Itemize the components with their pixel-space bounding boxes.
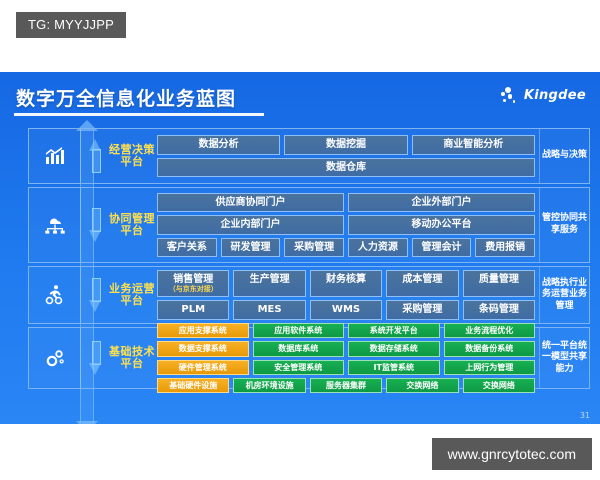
chip-data-storage-system[interactable]: 数据存储系统 [348, 341, 440, 356]
chip-internal-portal[interactable]: 企业内部门户 [157, 215, 344, 235]
chip-sales-mgmt[interactable]: 销售管理 （与京东对接） [157, 270, 229, 297]
architecture-layers: 经营决策平台 数据分析 数据挖掘 商业智能分析 数据仓库 战略与决策 [28, 128, 590, 392]
chip-row: 硬件管理系统 安全管理系统 IT监管系统 上网行为管理 [157, 360, 535, 375]
chip-mgmt-accounting[interactable]: 管理会计 [412, 238, 472, 258]
chip-database-system[interactable]: 数据库系统 [253, 341, 345, 356]
chip-data-backup-system[interactable]: 数据备份系统 [444, 341, 536, 356]
chip-internet-behavior-mgmt[interactable]: 上网行为管理 [444, 360, 536, 375]
page-title: 数字万全信息化业务蓝图 [16, 84, 236, 111]
layer-icon-cell [29, 328, 81, 388]
chip-security-mgmt-system[interactable]: 安全管理系统 [253, 360, 345, 375]
chip-row: 客户关系 研发管理 采购管理 人力资源 管理会计 费用报销 [157, 238, 535, 258]
chip-data-warehouse[interactable]: 数据仓库 [157, 158, 535, 178]
chip-data-analysis[interactable]: 数据分析 [157, 135, 280, 155]
layer-arrow-cell [81, 188, 109, 262]
chip-row: 数据支撑系统 数据库系统 数据存储系统 数据备份系统 [157, 341, 535, 356]
chip-hardware-mgmt-system[interactable]: 硬件管理系统 [157, 360, 249, 375]
layer-operations: 业务运营平台 销售管理 （与京东对接） 生产管理 财务核算 成本管理 质量管理 … [28, 266, 590, 324]
layer-body-collaboration: 供应商协同门户 企业外部门户 企业内部门户 移动办公平台 客户关系 研发管理 采… [155, 188, 539, 262]
kingdee-dots-icon [501, 86, 519, 104]
chip-row: 数据仓库 [157, 158, 535, 178]
layer-icon-cell [29, 267, 81, 323]
chip-mes[interactable]: MES [233, 300, 305, 320]
url-watermark-badge: www.gnrcytotec.com [432, 438, 592, 470]
gears-icon [43, 346, 67, 370]
arrow-down-icon [89, 208, 102, 242]
chip-wms[interactable]: WMS [310, 300, 382, 320]
chip-barcode-mgmt[interactable]: 条码管理 [463, 300, 535, 320]
chip-bi-analysis[interactable]: 商业智能分析 [412, 135, 535, 155]
side-label-execution: 战略执行业务运营业务管理 [539, 267, 589, 323]
arrow-down-icon [89, 278, 102, 312]
chip-production-mgmt[interactable]: 生产管理 [233, 270, 305, 297]
chip-quality-mgmt[interactable]: 质量管理 [463, 270, 535, 297]
chip-hr[interactable]: 人力资源 [348, 238, 408, 258]
bar-chart-icon [43, 144, 67, 168]
layer-name-decision: 经营决策平台 [109, 129, 155, 183]
chip-row: 企业内部门户 移动办公平台 [157, 215, 535, 235]
cloud-network-icon [43, 213, 67, 237]
chip-row: 销售管理 （与京东对接） 生产管理 财务核算 成本管理 质量管理 [157, 270, 535, 297]
chip-procurement-mgmt[interactable]: 采购管理 [284, 238, 344, 258]
chip-row: 供应商协同门户 企业外部门户 [157, 193, 535, 213]
layer-decision: 经营决策平台 数据分析 数据挖掘 商业智能分析 数据仓库 战略与决策 [28, 128, 590, 184]
chip-basic-hardware-facility[interactable]: 基础硬件设施 [157, 378, 229, 393]
arrow-down-icon [89, 341, 102, 375]
chip-data-mining[interactable]: 数据挖掘 [284, 135, 407, 155]
kingdee-logo: Kingdee [501, 86, 586, 104]
chip-purchase-mgmt[interactable]: 采购管理 [386, 300, 458, 320]
side-label-unified: 统一平台统一模型共享能力 [539, 328, 589, 388]
chip-rnd-mgmt[interactable]: 研发管理 [221, 238, 281, 258]
chip-crm[interactable]: 客户关系 [157, 238, 217, 258]
title-underline [14, 113, 264, 116]
chip-external-portal[interactable]: 企业外部门户 [348, 193, 535, 213]
screenshot-root: TG: MYYJJPP 数字万全信息化业务蓝图 Kingdee [0, 0, 600, 480]
layer-icon-cell [29, 188, 81, 262]
chip-sales-mgmt-sublabel: （与京东对接） [160, 286, 226, 294]
layer-body-decision: 数据分析 数据挖掘 商业智能分析 数据仓库 [155, 129, 539, 183]
layer-body-operations: 销售管理 （与京东对接） 生产管理 财务核算 成本管理 质量管理 PLM MES… [155, 267, 539, 323]
layer-icon-cell [29, 129, 81, 183]
chip-sales-mgmt-label: 销售管理 [173, 274, 213, 285]
layer-arrow-cell [81, 129, 109, 183]
side-label-governance: 管控协同共享服务 [539, 188, 589, 262]
chip-financial-accounting[interactable]: 财务核算 [310, 270, 382, 297]
chip-row: 应用支撑系统 应用软件系统 系统开发平台 业务流程优化 [157, 323, 535, 338]
layer-arrow-cell [81, 328, 109, 388]
chip-datacenter-facility[interactable]: 机房环境设施 [233, 378, 305, 393]
layer-collaboration: 协同管理平台 供应商协同门户 企业外部门户 企业内部门户 移动办公平台 客户关系… [28, 187, 590, 263]
layer-arrow-cell [81, 267, 109, 323]
chip-app-software-system[interactable]: 应用软件系统 [253, 323, 345, 338]
chip-app-support-system[interactable]: 应用支撑系统 [157, 323, 249, 338]
chip-row: 基础硬件设施 机房环境设施 服务器集群 交换网络 交换网络 [157, 378, 535, 393]
chip-expense-reimbursement[interactable]: 费用报销 [475, 238, 535, 258]
layer-technology: 基础技术平台 应用支撑系统 应用软件系统 系统开发平台 业务流程优化 数据支撑系… [28, 327, 590, 389]
layer-name-technology: 基础技术平台 [109, 328, 155, 388]
chip-row: PLM MES WMS 采购管理 条码管理 [157, 300, 535, 320]
chip-switching-network-2[interactable]: 交换网络 [463, 378, 535, 393]
chip-system-dev-platform[interactable]: 系统开发平台 [348, 323, 440, 338]
chip-switching-network-1[interactable]: 交换网络 [386, 378, 458, 393]
chip-server-cluster[interactable]: 服务器集群 [310, 378, 382, 393]
layer-body-technology: 应用支撑系统 应用软件系统 系统开发平台 业务流程优化 数据支撑系统 数据库系统… [155, 328, 539, 388]
slide-canvas: 数字万全信息化业务蓝图 Kingdee [0, 72, 600, 424]
layer-name-operations: 业务运营平台 [109, 267, 155, 323]
chip-mobile-office[interactable]: 移动办公平台 [348, 215, 535, 235]
page-number: 31 [580, 411, 590, 420]
side-label-strategy: 战略与决策 [539, 129, 589, 183]
chip-cost-mgmt[interactable]: 成本管理 [386, 270, 458, 297]
chip-row: 数据分析 数据挖掘 商业智能分析 [157, 135, 535, 155]
arrow-up-icon [89, 139, 102, 173]
operations-icon [43, 283, 67, 307]
tg-watermark-badge: TG: MYYJJPP [16, 12, 126, 38]
layer-name-collaboration: 协同管理平台 [109, 188, 155, 262]
chip-process-optimization[interactable]: 业务流程优化 [444, 323, 536, 338]
chip-data-support-system[interactable]: 数据支撑系统 [157, 341, 249, 356]
chip-it-supervision-system[interactable]: IT监管系统 [348, 360, 440, 375]
chip-supplier-portal[interactable]: 供应商协同门户 [157, 193, 344, 213]
chip-plm[interactable]: PLM [157, 300, 229, 320]
brand-name: Kingdee [524, 88, 586, 103]
